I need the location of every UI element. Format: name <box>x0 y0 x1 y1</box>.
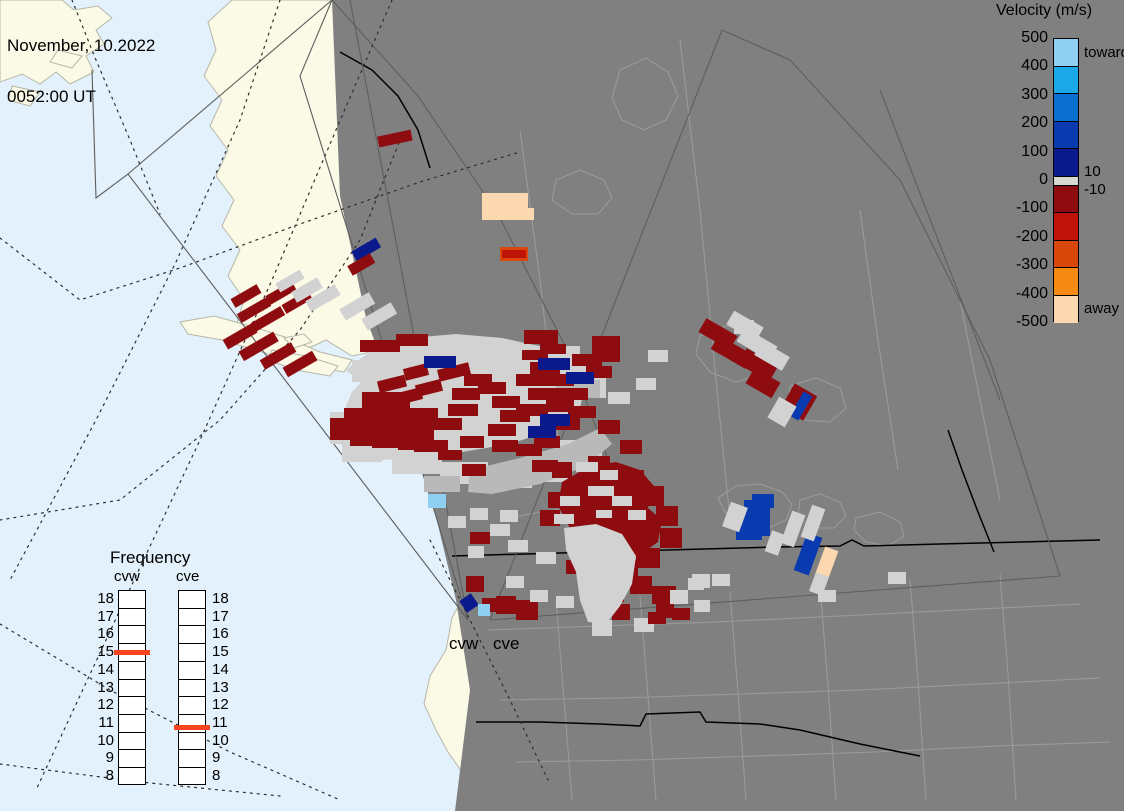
frequency-tick-label: 18 <box>92 590 114 607</box>
colorbar-tick-label: 200 <box>992 114 1048 132</box>
frequency-segment <box>179 733 205 751</box>
radar-cell <box>478 604 490 616</box>
frequency-tick-label: 10 <box>92 732 114 749</box>
radar-map-canvas: November, 10.2022 0052:00 UT Velocity (m… <box>0 0 1124 811</box>
frequency-segment <box>119 680 145 698</box>
radar-cell <box>592 620 612 636</box>
radar-cell <box>566 372 594 384</box>
radar-cell <box>648 350 668 362</box>
frequency-segment <box>179 644 205 662</box>
radar-cell <box>536 552 556 564</box>
colorbar-tick-label: 0 <box>992 171 1048 189</box>
frequency-tick-label: 9 <box>212 749 234 766</box>
frequency-segment <box>179 680 205 698</box>
radar-cell <box>490 524 510 536</box>
radar-cell <box>556 596 574 608</box>
colorbar-title: Velocity (m/s) <box>996 2 1092 20</box>
frequency-marker-cvw[interactable] <box>114 650 150 655</box>
radar-cell <box>468 546 484 558</box>
frequency-segment <box>179 626 205 644</box>
frequency-segment <box>119 750 145 768</box>
radar-cell <box>598 420 620 434</box>
radar-cell <box>360 340 400 352</box>
radar-cell <box>734 320 754 334</box>
radar-cell <box>688 578 704 590</box>
colorbar-band <box>1054 149 1078 177</box>
date-label: November, 10.2022 <box>7 37 155 54</box>
frequency-tick-label: 8 <box>92 767 114 784</box>
colorbar-band <box>1054 241 1078 269</box>
radar-cell <box>506 576 524 588</box>
frequency-tick-label: 13 <box>92 679 114 696</box>
radar-cell <box>630 576 652 594</box>
frequency-title: Frequency <box>110 548 190 568</box>
radar-cell <box>508 540 528 552</box>
radar-cell <box>496 596 516 614</box>
frequency-tick-label: 12 <box>212 696 234 713</box>
radar-cell <box>396 334 428 346</box>
colorbar-positive-threshold-label: 10 <box>1084 163 1101 180</box>
radar-cell <box>554 514 574 524</box>
frequency-segment <box>179 662 205 680</box>
radar-cell <box>460 436 484 448</box>
radar-cell <box>636 548 660 568</box>
radar-cell <box>424 356 456 368</box>
colorbar-toward-label: toward <box>1084 44 1124 61</box>
radar-cell <box>540 414 570 426</box>
frequency-bar-cvw[interactable] <box>118 590 146 785</box>
radar-cell <box>398 440 424 450</box>
frequency-tick-label: 15 <box>92 643 114 660</box>
radar-cell <box>448 516 466 528</box>
radar-cell <box>428 494 446 508</box>
frequency-segment <box>119 662 145 680</box>
frequency-segment <box>179 591 205 609</box>
frequency-segment <box>179 697 205 715</box>
radar-cell <box>818 590 836 602</box>
radar-cell <box>488 424 516 436</box>
radar-cell <box>752 494 774 508</box>
colorbar-band <box>1054 67 1078 95</box>
radar-cell <box>620 470 644 490</box>
radar-cell <box>670 590 688 604</box>
radar-cell <box>642 486 664 506</box>
frequency-bar-name-cvw: cvw <box>114 568 140 585</box>
radar-cell <box>424 476 460 492</box>
colorbar-band <box>1054 186 1078 214</box>
radar-cell <box>538 358 570 370</box>
radar-cell <box>516 444 542 456</box>
radar-site-label-cve: cve <box>493 634 519 654</box>
radar-cell <box>608 392 630 404</box>
radar-cell <box>448 404 478 416</box>
radar-cell <box>694 600 710 612</box>
radar-cell <box>438 450 462 460</box>
frequency-segment <box>119 591 145 609</box>
colorbar-band <box>1054 296 1078 324</box>
radar-cell <box>660 528 682 548</box>
frequency-tick-label: 16 <box>212 625 234 642</box>
colorbar-band <box>1054 213 1078 241</box>
frequency-tick-label: 8 <box>212 767 234 784</box>
frequency-tick-label: 15 <box>212 643 234 660</box>
radar-cell <box>530 590 548 602</box>
colorbar-tick-label: 500 <box>992 29 1048 47</box>
frequency-segment <box>179 768 205 786</box>
frequency-tick-label: 12 <box>92 696 114 713</box>
radar-cell <box>392 452 442 474</box>
map-layer <box>0 0 1124 811</box>
frequency-marker-cve[interactable] <box>174 725 210 730</box>
frequency-segment <box>179 609 205 627</box>
radar-cell <box>466 576 484 592</box>
colorbar-tick-label: -300 <box>992 256 1048 274</box>
frequency-tick-label: 13 <box>212 679 234 696</box>
radar-cell <box>656 506 678 526</box>
radar-cell <box>540 344 566 354</box>
radar-cell <box>502 250 526 258</box>
radar-cell <box>516 600 538 620</box>
radar-cell <box>560 496 580 506</box>
radar-cell <box>500 510 518 522</box>
radar-cell <box>648 612 666 624</box>
frequency-tick-label: 14 <box>92 661 114 678</box>
radar-cell <box>528 426 556 438</box>
radar-cell <box>636 378 656 390</box>
radar-cell <box>528 388 558 400</box>
radar-cell <box>620 440 642 454</box>
radar-cell <box>350 436 374 446</box>
frequency-tick-label: 14 <box>212 661 234 678</box>
radar-cell <box>712 574 730 586</box>
frequency-tick-label: 11 <box>92 714 114 731</box>
colorbar-band <box>1054 268 1078 296</box>
colorbar-tick-label: -100 <box>992 199 1048 217</box>
velocity-colorbar <box>1053 38 1079 322</box>
radar-cell <box>492 440 518 452</box>
radar-site-label-cvw: cvw <box>449 634 478 654</box>
radar-cell <box>672 608 690 620</box>
radar-cell <box>588 486 614 496</box>
radar-cell <box>516 374 548 386</box>
radar-cell <box>572 354 602 366</box>
radar-cell <box>888 572 906 584</box>
colorbar-tick-label: 300 <box>992 86 1048 104</box>
colorbar-tick-label: -200 <box>992 228 1048 246</box>
radar-cell <box>498 208 534 220</box>
frequency-segment <box>119 626 145 644</box>
timestamp-block: November, 10.2022 0052:00 UT <box>7 3 155 139</box>
radar-cell <box>400 426 434 440</box>
radar-cell <box>576 462 598 472</box>
frequency-segment <box>179 750 205 768</box>
frequency-tick-label: 18 <box>212 590 234 607</box>
radar-cell <box>452 388 480 400</box>
frequency-segment <box>119 733 145 751</box>
colorbar-negative-threshold-label: -10 <box>1084 181 1106 198</box>
radar-cell <box>470 508 488 520</box>
frequency-tick-label: 17 <box>212 608 234 625</box>
frequency-tick-label: 11 <box>212 714 234 731</box>
radar-cell <box>432 418 462 430</box>
frequency-tick-label: 10 <box>212 732 234 749</box>
frequency-tick-label: 16 <box>92 625 114 642</box>
frequency-segment <box>119 768 145 786</box>
frequency-segment <box>119 697 145 715</box>
radar-cell <box>568 406 596 418</box>
frequency-tick-label: 17 <box>92 608 114 625</box>
radar-cell <box>556 388 588 400</box>
radar-cell <box>524 330 558 344</box>
radar-cell <box>470 532 490 544</box>
colorbar-band <box>1054 122 1078 150</box>
colorbar-away-label: away <box>1084 300 1119 317</box>
frequency-tick-label: 9 <box>92 749 114 766</box>
radar-cell <box>612 496 632 506</box>
time-label: 0052:00 UT <box>7 88 155 105</box>
colorbar-tick-label: 400 <box>992 57 1048 75</box>
radar-cell <box>628 510 646 520</box>
colorbar-band <box>1054 39 1078 67</box>
colorbar-tick-label: -500 <box>992 313 1048 331</box>
radar-cell <box>462 464 486 476</box>
colorbar-tick-label: -400 <box>992 285 1048 303</box>
frequency-segment <box>119 715 145 733</box>
radar-cell <box>478 382 506 394</box>
radar-cell <box>464 344 522 360</box>
colorbar-tick-label: 100 <box>992 143 1048 161</box>
frequency-segment <box>119 609 145 627</box>
radar-cell <box>586 600 602 614</box>
frequency-bar-cve[interactable] <box>178 590 206 785</box>
colorbar-band <box>1054 94 1078 122</box>
radar-cell <box>552 462 572 478</box>
radar-cell <box>492 396 520 408</box>
frequency-bar-name-cve: cve <box>176 568 199 585</box>
radar-cell <box>600 470 618 480</box>
radar-cell <box>596 510 612 518</box>
colorbar-band <box>1054 177 1078 186</box>
